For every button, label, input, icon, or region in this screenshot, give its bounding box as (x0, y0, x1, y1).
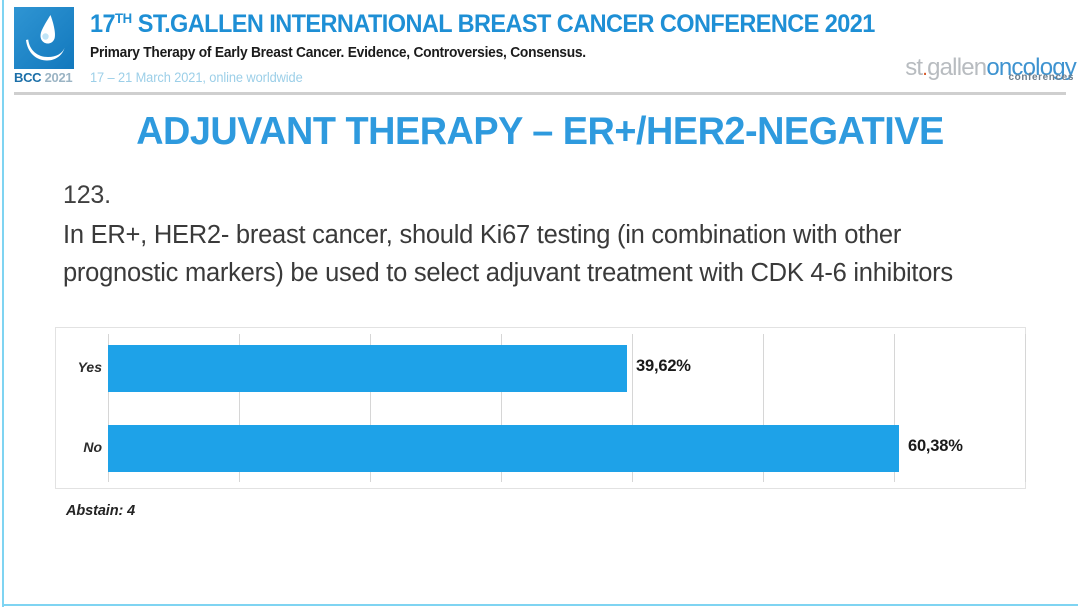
vote-results-chart: YesNo 39,62%60,38% (55, 327, 1026, 489)
chart-category-axis: YesNo (56, 328, 108, 488)
conference-title: 17TH ST.GALLEN INTERNATIONAL BREAST CANC… (90, 10, 875, 39)
droplet-icon (14, 7, 74, 69)
chart-gridline (1025, 334, 1026, 482)
chart-bars-area: 39,62%60,38% (108, 328, 1025, 488)
abstain-count: Abstain: 4 (66, 503, 135, 519)
chart-category-label: Yes (78, 359, 102, 375)
sponsor-logo-st: st (905, 54, 922, 81)
chart-plot-area: YesNo 39,62%60,38% (56, 328, 1025, 488)
chart-bar-value-label: 39,62% (636, 357, 691, 376)
sponsor-logo-conferences: conferences (1008, 72, 1074, 83)
conference-subtitle: Primary Therapy of Early Breast Cancer. … (90, 45, 586, 61)
slide-title: ADJUVANT THERAPY – ER+/HER2-NEGATIVE (16, 110, 1064, 154)
bcc-logo: BCC 2021 (14, 7, 80, 87)
sponsor-logo-gallen: gallen (927, 54, 986, 81)
st-gallen-oncology-logo: st.gallenoncology conferences (866, 55, 1076, 89)
bcc-logo-year: 2021 (45, 70, 73, 85)
slide-frame-bottom-edge (2, 604, 1078, 606)
conference-title-ordinal-suffix: TH (115, 10, 132, 26)
chart-category-label: No (83, 439, 102, 455)
question-number: 123. (63, 181, 111, 210)
chart-bar (108, 425, 899, 472)
question-text: In ER+, HER2- breast cancer, should Ki67… (63, 216, 1023, 292)
header-divider (14, 92, 1066, 95)
bcc-logo-abbrev: BCC (14, 70, 41, 85)
presentation-slide: BCC 2021 17TH ST.GALLEN INTERNATIONAL BR… (0, 0, 1080, 607)
conference-header: BCC 2021 17TH ST.GALLEN INTERNATIONAL BR… (0, 0, 1080, 92)
chart-bar-value-label: 60,38% (908, 437, 963, 456)
conference-dateline: 17 – 21 March 2021, online worldwide (90, 70, 303, 85)
conference-title-ordinal: 17 (90, 10, 115, 38)
bcc-logo-text: BCC 2021 (14, 70, 72, 85)
chart-bar (108, 345, 627, 392)
conference-title-main: ST.GALLEN INTERNATIONAL BREAST CANCER CO… (132, 10, 875, 38)
